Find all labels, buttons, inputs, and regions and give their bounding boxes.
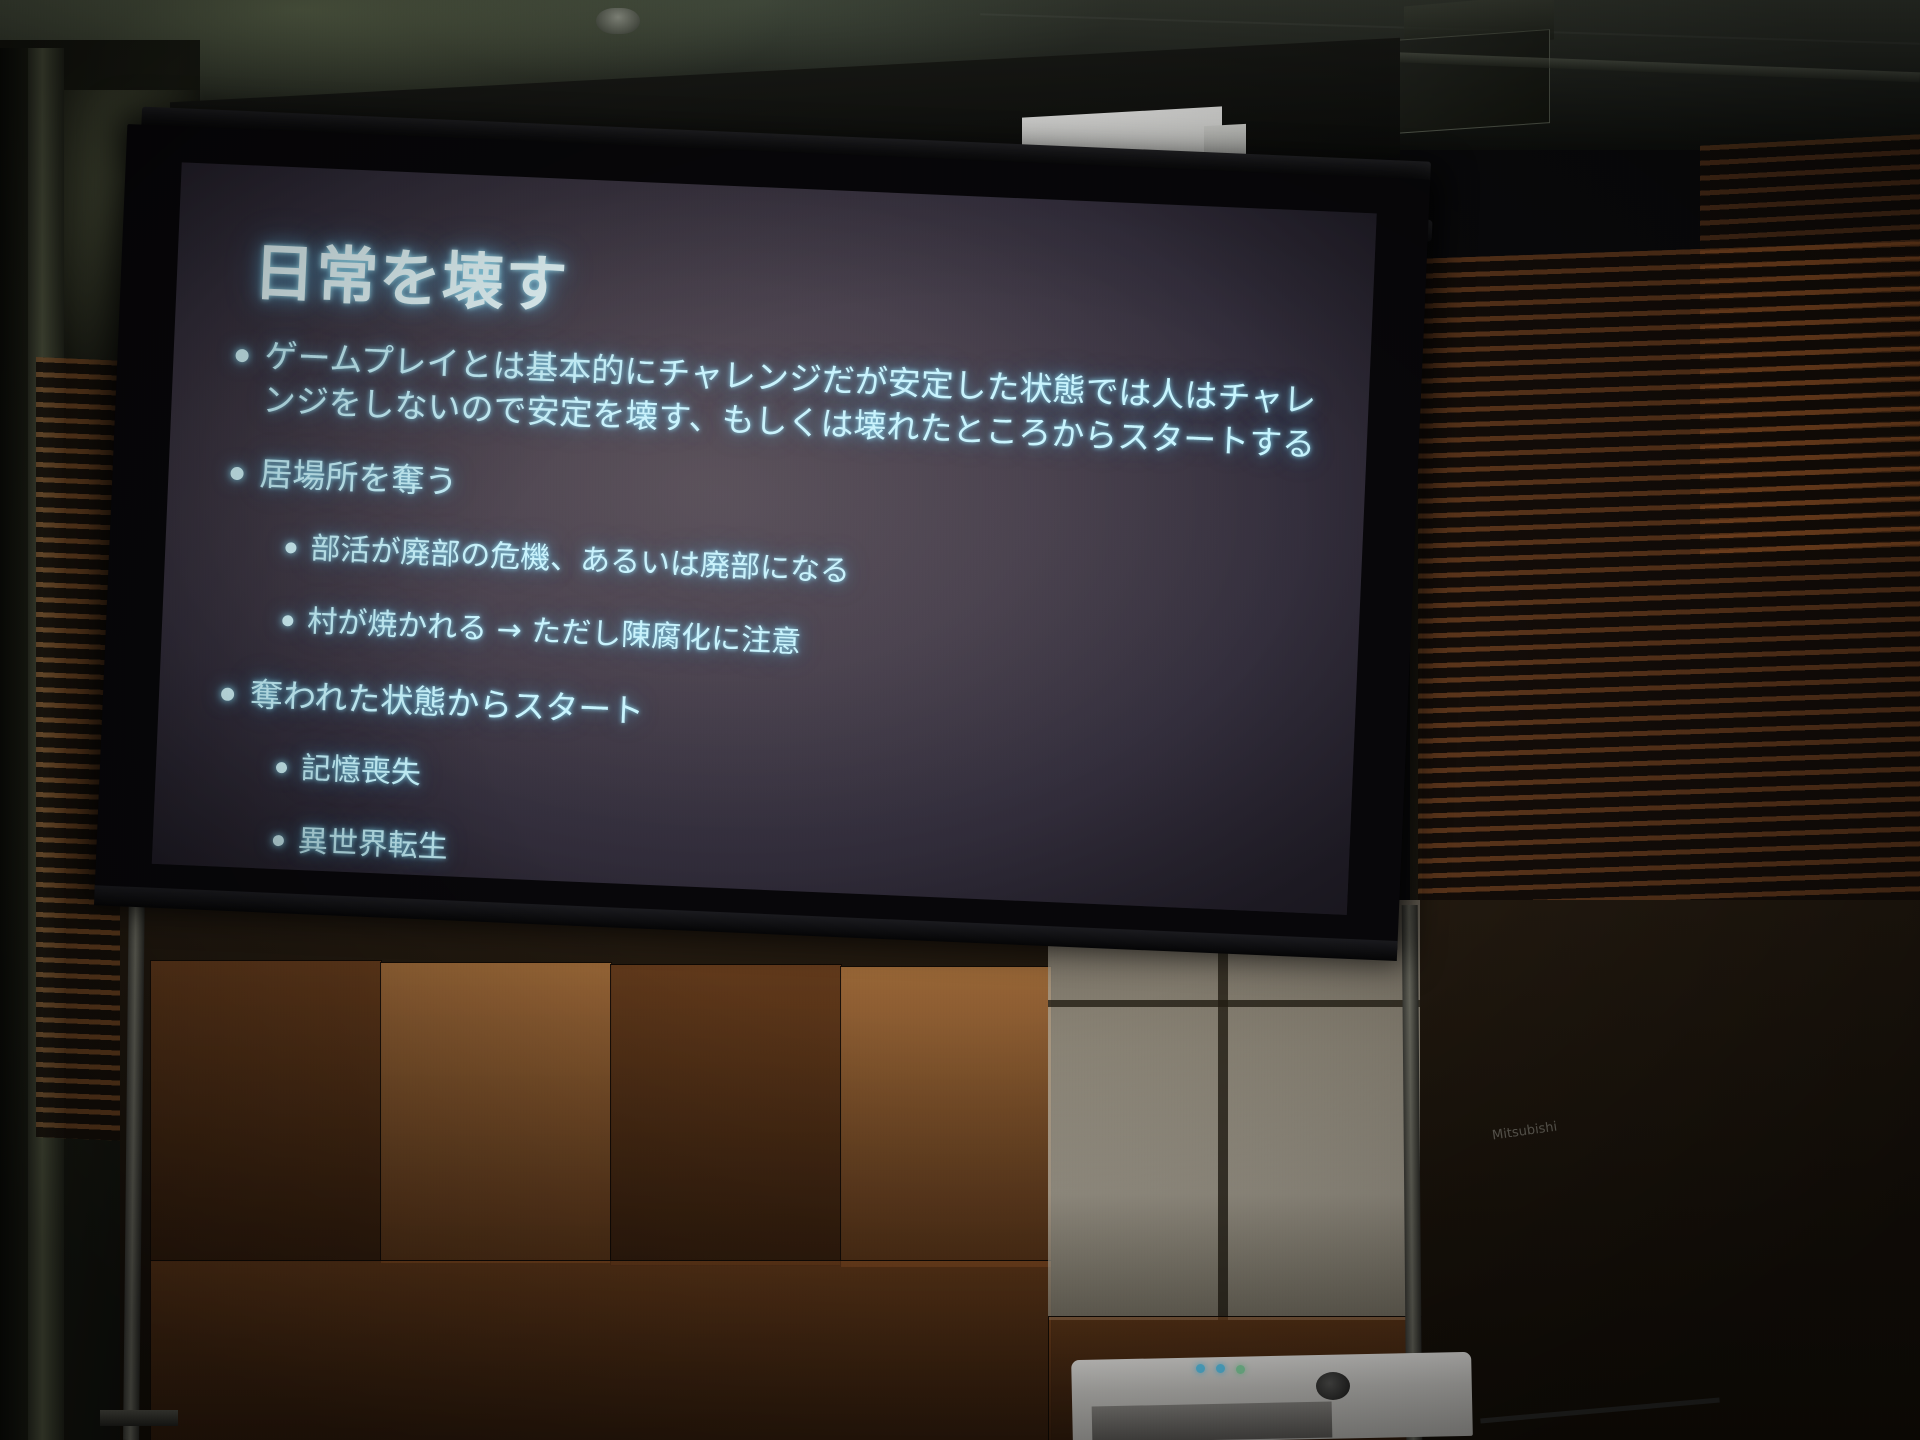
bullet-dot-icon xyxy=(285,542,296,553)
screen-frame: 日常を壊す ゲームプレイとは基本的にチャレンジだが安定した状態では人はチャレンジ… xyxy=(94,124,1430,951)
sub-bullet-item: 記憶喪失 xyxy=(275,748,1308,831)
room-photo: 日常を壊す ゲームプレイとは基本的にチャレンジだが安定した状態では人はチャレンジ… xyxy=(0,0,1920,1440)
slide: 日常を壊す ゲームプレイとは基本的にチャレンジだが安定した状態では人はチャレンジ… xyxy=(152,162,1377,914)
bullet-dot-icon xyxy=(273,835,284,846)
wall-edge xyxy=(0,48,30,1440)
door-mullion xyxy=(1218,900,1228,1320)
bullet-dot-icon xyxy=(235,349,249,363)
bullet-text: 部活が廃部の危機、あるいは廃部になる xyxy=(310,529,1318,611)
bullet-text: ゲームプレイとは基本的にチャレンジだが安定した状態では人はチャレンジをしないので… xyxy=(262,334,1326,468)
sub-bullet-item: 部活が廃部の危機、あるいは廃部になる xyxy=(285,528,1318,611)
sub-bullet-item: 異世界転生 xyxy=(272,821,1305,904)
cabinet-panel xyxy=(610,964,842,1266)
cabinet-panel xyxy=(380,962,612,1264)
bullet-text: 居場所を奪う xyxy=(259,452,1321,542)
projector-status-led xyxy=(1236,1365,1245,1374)
cabinet-panel xyxy=(840,966,1052,1268)
cabinet-panel xyxy=(150,960,382,1262)
bullet-text: 村が焼かれる → ただし陳腐化に注意 xyxy=(306,602,1314,684)
projector-base xyxy=(1092,1401,1333,1440)
projector-status-led xyxy=(1196,1364,1205,1373)
bullet-text: 奪われた状態からスタート xyxy=(249,672,1311,762)
door-mullion xyxy=(1048,1000,1420,1007)
slide-bullet-list: ゲームプレイとは基本的にチャレンジだが安定した状態では人はチャレンジをしないので… xyxy=(213,333,1326,915)
sub-bullet-item: 村が焼かれる → ただし陳腐化に注意 xyxy=(281,601,1314,684)
bullet-dot-icon xyxy=(230,467,244,481)
projector-status-led xyxy=(1216,1364,1225,1373)
projection-screen: 日常を壊す ゲームプレイとは基本的にチャレンジだが安定した状態では人はチャレンジ… xyxy=(94,110,1445,966)
screen-stand-foot xyxy=(100,1410,178,1426)
bullet-dot-icon xyxy=(276,762,287,773)
bullet-dot-icon xyxy=(282,615,293,626)
bullet-dot-icon xyxy=(221,687,235,701)
bullet-item: 居場所を奪う xyxy=(230,451,1321,542)
slide-title: 日常を壊す xyxy=(252,222,571,325)
projector-lens xyxy=(1316,1372,1350,1400)
screen-surface: 日常を壊す ゲームプレイとは基本的にチャレンジだが安定した状態では人はチャレンジ… xyxy=(152,162,1377,914)
bullet-text: 異世界転生 xyxy=(297,822,1305,904)
bullet-item: ゲームプレイとは基本的にチャレンジだが安定した状態では人はチャレンジをしないので… xyxy=(233,333,1326,468)
cabinet-panel xyxy=(150,1260,1052,1440)
bullet-item: 奪われた状態からスタート xyxy=(220,671,1311,762)
smoke-detector-icon xyxy=(596,8,640,34)
bullet-text: 記憶喪失 xyxy=(300,749,1308,831)
